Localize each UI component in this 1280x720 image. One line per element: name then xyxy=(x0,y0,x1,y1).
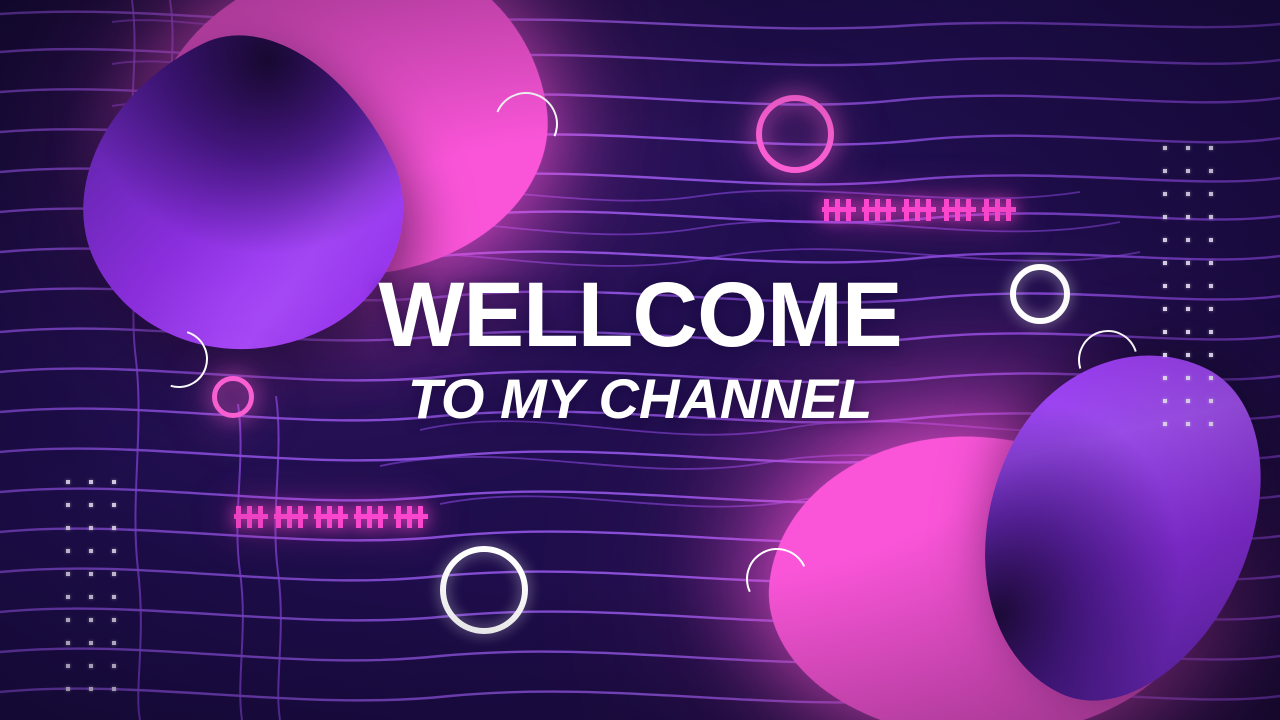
dot-row xyxy=(1163,146,1232,169)
dot xyxy=(112,641,116,645)
dot xyxy=(1186,192,1190,196)
dot xyxy=(1186,215,1190,219)
dot xyxy=(66,549,70,553)
dot xyxy=(89,641,93,645)
tally-group xyxy=(984,199,1016,221)
page-title: WELLCOME xyxy=(6,272,1273,359)
dot xyxy=(66,526,70,530)
dot-row xyxy=(66,572,135,595)
page-subtitle: TO MY CHANNEL xyxy=(0,371,1280,427)
dot xyxy=(112,503,116,507)
dot xyxy=(66,641,70,645)
dot xyxy=(66,595,70,599)
dot xyxy=(89,664,93,668)
tally-group xyxy=(356,506,388,528)
dot xyxy=(89,526,93,530)
dot xyxy=(1163,238,1167,242)
dot xyxy=(66,503,70,507)
dot xyxy=(1163,146,1167,150)
headline-block: WELLCOME TO MY CHANNEL xyxy=(0,272,1280,427)
dot-row xyxy=(66,503,135,526)
dot xyxy=(89,618,93,622)
tally-group xyxy=(316,506,348,528)
dot xyxy=(89,572,93,576)
dot xyxy=(112,687,116,691)
dot xyxy=(112,480,116,484)
dot xyxy=(89,595,93,599)
dot xyxy=(112,572,116,576)
dot-row xyxy=(1163,192,1232,215)
dot xyxy=(66,618,70,622)
banner-canvas: WELLCOME TO MY CHANNEL xyxy=(0,0,1280,720)
dot xyxy=(112,526,116,530)
ring-white-bottom-icon xyxy=(440,546,528,634)
dot xyxy=(89,480,93,484)
dot xyxy=(1186,146,1190,150)
dot xyxy=(89,549,93,553)
dot-row xyxy=(1163,238,1232,261)
dot xyxy=(89,687,93,691)
dot xyxy=(66,687,70,691)
dot xyxy=(112,595,116,599)
dot-row xyxy=(66,526,135,549)
dot-row xyxy=(1163,215,1232,238)
dot xyxy=(1163,192,1167,196)
tally-marks-top-icon xyxy=(824,199,1024,221)
dot-grid-left-icon xyxy=(66,480,135,710)
dot xyxy=(1209,169,1213,173)
dot xyxy=(1209,261,1213,265)
dot xyxy=(66,572,70,576)
tally-group xyxy=(944,199,976,221)
tally-group xyxy=(396,506,428,528)
dot xyxy=(1163,169,1167,173)
tally-group xyxy=(276,506,308,528)
dot-row xyxy=(66,549,135,572)
ring-pink-top-icon xyxy=(756,95,834,173)
dot xyxy=(1186,261,1190,265)
dot xyxy=(66,480,70,484)
dot-row xyxy=(66,664,135,687)
dot xyxy=(1209,238,1213,242)
dot xyxy=(1186,169,1190,173)
tally-group xyxy=(236,506,268,528)
dot xyxy=(89,503,93,507)
tally-group xyxy=(824,199,856,221)
dot xyxy=(1163,261,1167,265)
dot-row xyxy=(66,618,135,641)
dot xyxy=(112,549,116,553)
dot-row xyxy=(66,641,135,664)
dot xyxy=(112,618,116,622)
tally-group xyxy=(904,199,936,221)
tally-marks-bottom-icon xyxy=(236,506,436,528)
dot xyxy=(1163,215,1167,219)
dot-row xyxy=(1163,169,1232,192)
dot xyxy=(1209,192,1213,196)
tally-group xyxy=(864,199,896,221)
dot xyxy=(1186,238,1190,242)
dot xyxy=(66,664,70,668)
dot xyxy=(1209,146,1213,150)
dot-row xyxy=(66,595,135,618)
dot xyxy=(112,664,116,668)
dot-row xyxy=(66,480,135,503)
dot-row xyxy=(66,687,135,710)
dot xyxy=(1209,215,1213,219)
